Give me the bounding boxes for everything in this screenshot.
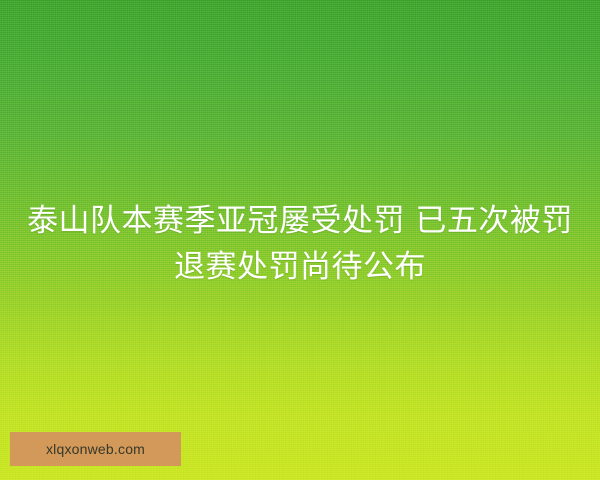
watermark-badge: xlqxonweb.com (10, 432, 181, 466)
article-banner: 泰山队本赛季亚冠屡受处罚 已五次被罚 退赛处罚尚待公布 xlqxonweb.co… (0, 0, 600, 480)
headline-text: 泰山队本赛季亚冠屡受处罚 已五次被罚 退赛处罚尚待公布 (0, 198, 600, 290)
watermark-label: xlqxonweb.com (46, 442, 145, 456)
